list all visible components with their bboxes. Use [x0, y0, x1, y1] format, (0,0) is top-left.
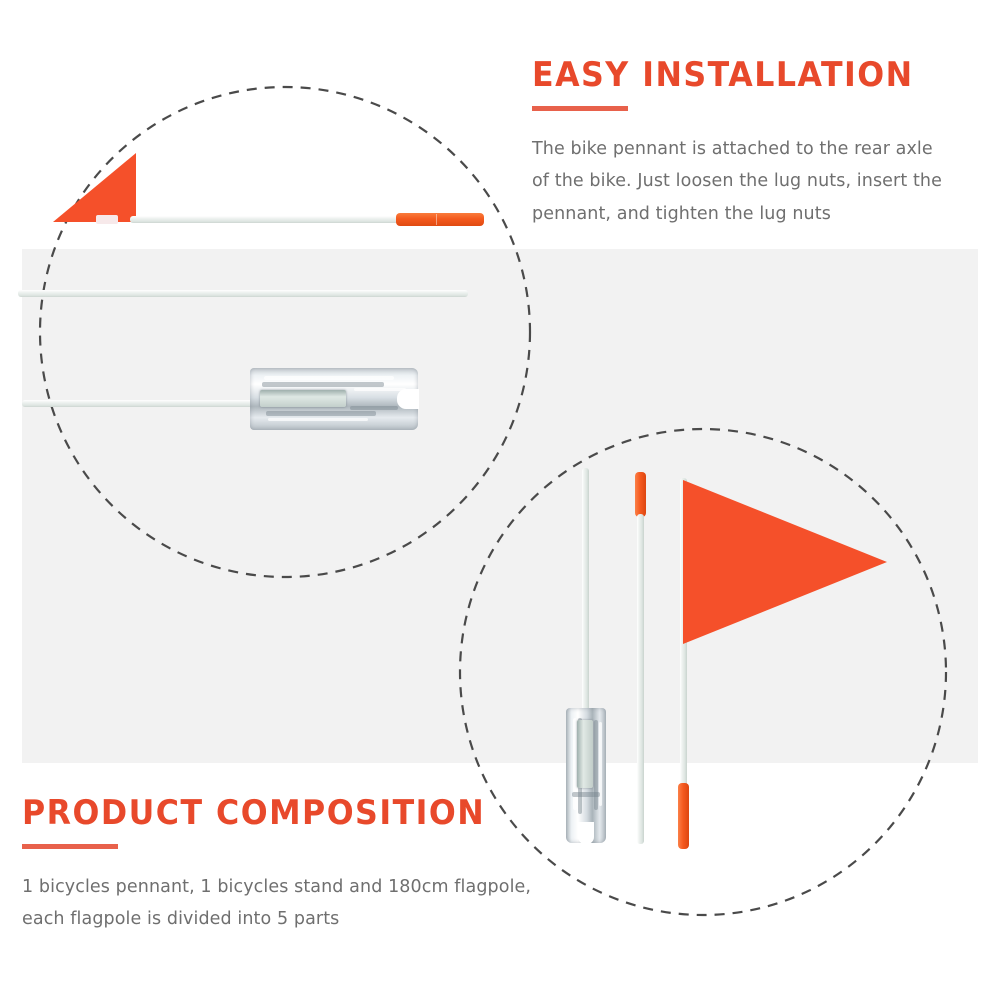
installation-title: EASY INSTALLATION	[532, 58, 932, 92]
bracket-shadow-tail	[350, 406, 398, 410]
pennant-flag-tab	[96, 215, 118, 224]
flagpole-segment-top	[130, 216, 418, 223]
installation-body: The bike pennant is attached to the rear…	[532, 133, 962, 230]
composition-body: 1 bicycles pennant, 1 bicycles stand and…	[22, 871, 642, 936]
flagpole-segment-middle	[18, 290, 468, 297]
upright-flagpole-in-stand	[582, 468, 589, 718]
assembled-pennant-flag-triangle	[683, 480, 887, 644]
composition-body-line-1: 1 bicycles pennant, 1 bicycles stand and…	[22, 871, 642, 903]
installation-body-line-2: of the bike. Just loosen the lug nuts, i…	[532, 165, 962, 197]
bracket-shadow-lower	[266, 411, 376, 416]
pennant-flag-triangle	[53, 153, 136, 222]
composition-body-line-2: each flagpole is divided into 5 parts	[22, 903, 642, 935]
bracket-clamp-channel	[260, 390, 346, 407]
bracket-shadow-upper	[262, 382, 384, 387]
pole-connector-tip-upright	[635, 472, 646, 517]
composition-title: PRODUCT COMPOSITION	[22, 796, 599, 830]
section-easy-installation: EASY INSTALLATION The bike pennant is at…	[532, 58, 962, 230]
installation-body-line-1: The bike pennant is attached to the rear…	[532, 133, 962, 165]
bracket-ridge-top	[264, 376, 394, 380]
bracket-ridge-bottom	[268, 418, 368, 421]
bracket-ridge-tail	[354, 388, 406, 391]
flagpole-segment-bottom	[22, 400, 282, 407]
pole-connector-tip-top	[396, 213, 484, 226]
installation-underline-rule	[532, 106, 628, 111]
installation-body-line-3: pennant, and tighten the lug nuts	[532, 198, 962, 230]
bracket-axle-notch	[397, 389, 419, 409]
composition-underline-rule	[22, 844, 118, 849]
pole-connector-tip-bottom	[678, 783, 689, 849]
section-product-composition: PRODUCT COMPOSITION 1 bicycles pennant, …	[22, 796, 642, 936]
product-infographic-page: EASY INSTALLATION The bike pennant is at…	[0, 0, 1000, 1000]
bracket-v-clamp-channel	[577, 720, 593, 788]
upright-flagpole-segment	[637, 514, 644, 844]
metal-stand-bracket-horizontal	[250, 368, 418, 430]
